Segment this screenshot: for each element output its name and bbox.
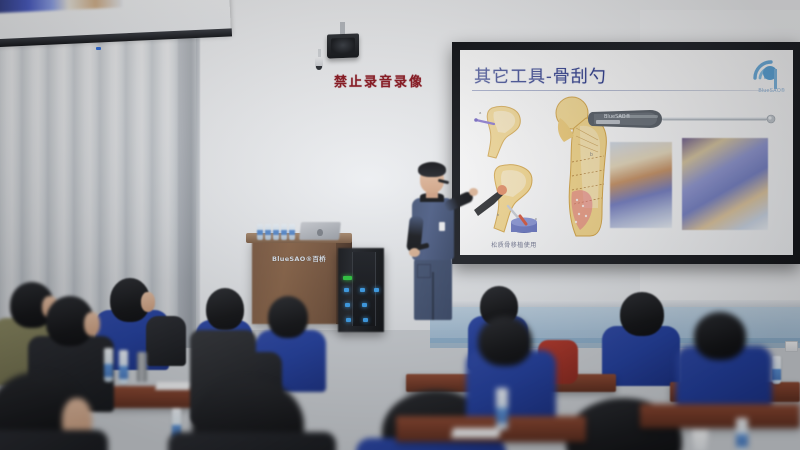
curette-in-bone-illustration: b c	[474, 162, 548, 236]
network-led	[345, 303, 350, 307]
presenter-pocket	[417, 264, 431, 278]
attendee-face	[84, 312, 100, 336]
bluesao-logo-text: BlueSAO®	[758, 88, 785, 94]
audience-desk	[640, 404, 800, 428]
ceiling-speaker	[327, 33, 359, 58]
water-bottle	[273, 224, 279, 240]
water-bottle	[736, 418, 748, 450]
water-bottle	[281, 224, 287, 240]
attendee-head	[206, 288, 244, 330]
water-bottle	[496, 388, 508, 430]
attendee-arm	[146, 316, 186, 366]
water-bottle	[104, 348, 113, 382]
network-led	[344, 288, 349, 292]
network-led	[363, 318, 368, 322]
svg-text:a: a	[479, 110, 482, 115]
curtain-edge	[178, 18, 200, 348]
slide-title: 其它工具-骨刮勺	[474, 62, 607, 87]
lecture-hall-photo: 禁止录音录像 其它工具-骨刮勺 BlueSAO® a	[0, 0, 800, 450]
svg-text:b: b	[590, 152, 593, 158]
presenter-right-hand	[469, 188, 478, 196]
attendee-head	[694, 312, 746, 360]
attendee-face	[141, 292, 155, 312]
water-bottle	[257, 224, 263, 240]
laptop-logo-icon	[317, 229, 323, 236]
presenter-hair	[418, 162, 446, 177]
auxiliary-display-led	[96, 47, 101, 50]
podium-brand-label: BlueSAO®百桥	[252, 253, 346, 263]
power-led	[343, 276, 352, 280]
water-bottle	[772, 356, 781, 384]
presenter-speaker	[398, 160, 468, 320]
attendee-body	[0, 430, 108, 450]
notepad	[451, 428, 501, 438]
projection-screen: 其它工具-骨刮勺 BlueSAO® a	[460, 50, 793, 255]
podium-water-bottles	[257, 224, 299, 240]
water-bottle	[265, 224, 271, 240]
attendee-head	[620, 292, 664, 336]
slide-caption: 松质骨移植使用	[476, 240, 552, 249]
power-outlet	[785, 341, 798, 352]
slide-divider	[472, 90, 772, 91]
attendee-head	[478, 316, 532, 366]
svg-text:c: c	[535, 216, 537, 221]
network-led	[362, 303, 367, 307]
auxiliary-display-content	[0, 0, 123, 13]
water-bottle	[119, 350, 128, 384]
paper-cup	[690, 430, 710, 450]
presenter-leg-seam	[432, 272, 434, 320]
network-led	[360, 288, 365, 292]
bone-curette-instrument: BlueSAO®	[588, 106, 780, 132]
presenter-badge	[439, 222, 445, 231]
attendee-body	[168, 432, 336, 450]
svg-text:BlueSAO®: BlueSAO®	[604, 113, 631, 120]
water-bottle	[289, 224, 295, 240]
femur-head-detail-illustration: a	[474, 102, 536, 164]
network-led	[346, 318, 351, 322]
surgical-photo-left	[610, 142, 672, 228]
no-recording-sign: 禁止录音录像	[334, 71, 424, 90]
notepad	[155, 382, 191, 390]
surgical-photo-right	[682, 138, 768, 230]
speaker-grille	[331, 38, 355, 55]
attendee-head	[268, 296, 308, 338]
network-led	[374, 288, 379, 292]
thermos	[137, 352, 147, 382]
